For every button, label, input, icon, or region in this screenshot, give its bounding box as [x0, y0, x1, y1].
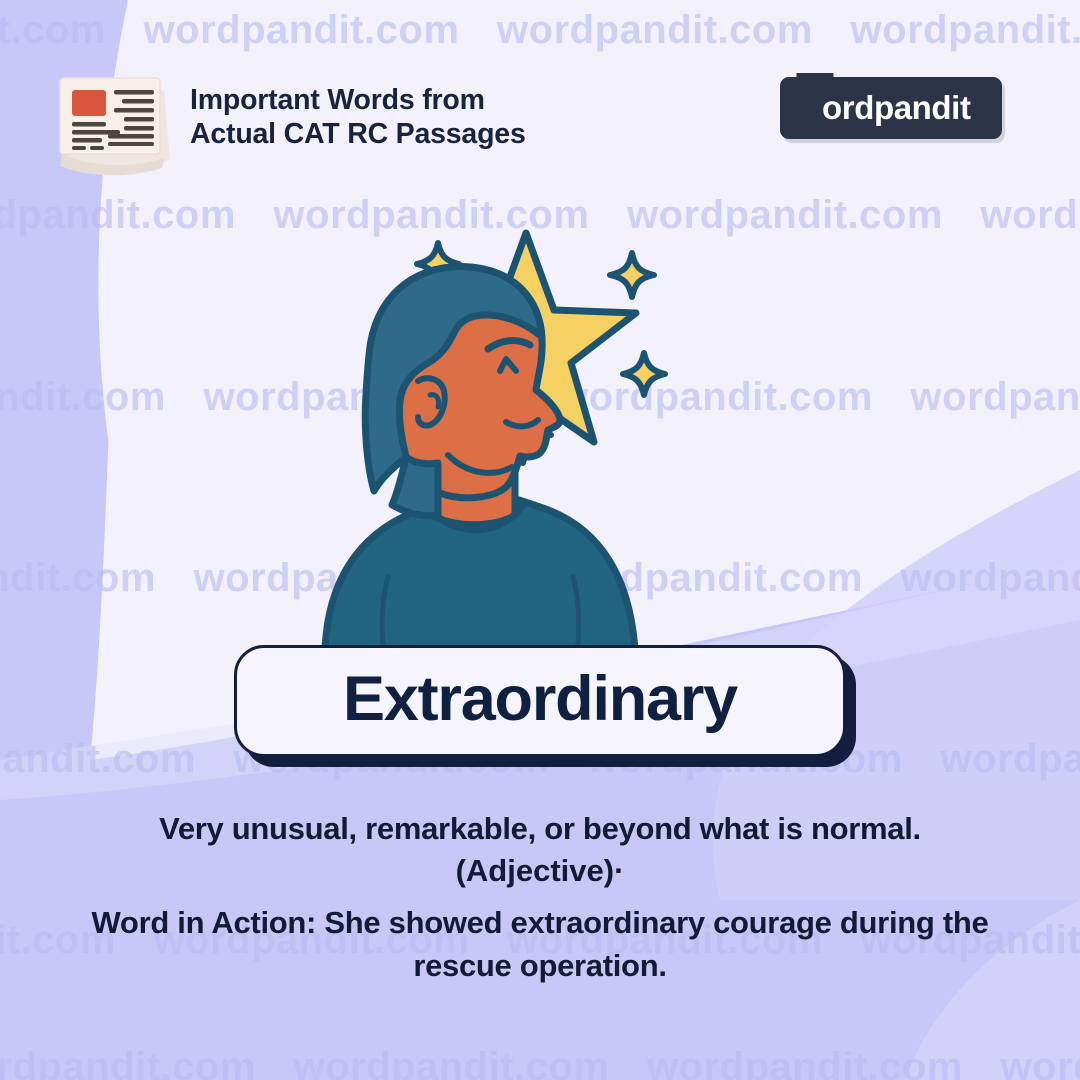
page-title-line-2: Actual CAT RC Passages — [190, 118, 526, 152]
definition-meaning: Very unusual, remarkable, or beyond what… — [30, 808, 1050, 850]
word-card: Extraordinary — [234, 645, 846, 757]
usage-example: Word in Action: She showed extraordinary… — [30, 902, 1050, 988]
logo-text: ordpandit — [822, 77, 971, 139]
sparkle-icon — [610, 253, 654, 297]
man-profile-with-star-illustration — [310, 225, 740, 650]
vocabulary-card-page: wordpandit.com wordpandit.com wordpandit… — [0, 0, 1080, 1080]
page-header: Important Words from Actual CAT RC Passa… — [0, 64, 1080, 174]
page-title: Important Words from Actual CAT RC Passa… — [190, 84, 526, 151]
wordpandit-logo[interactable]: ordpandit — [780, 77, 1002, 139]
vocabulary-word: Extraordinary — [343, 668, 737, 735]
definition-block: Very unusual, remarkable, or beyond what… — [30, 808, 1050, 988]
page-title-line-1: Important Words from — [190, 84, 526, 118]
newspaper-icon — [52, 68, 174, 176]
word-card-face: Extraordinary — [234, 645, 846, 757]
part-of-speech: (Adjective)· — [30, 850, 1050, 892]
sparkle-icon — [623, 353, 665, 395]
